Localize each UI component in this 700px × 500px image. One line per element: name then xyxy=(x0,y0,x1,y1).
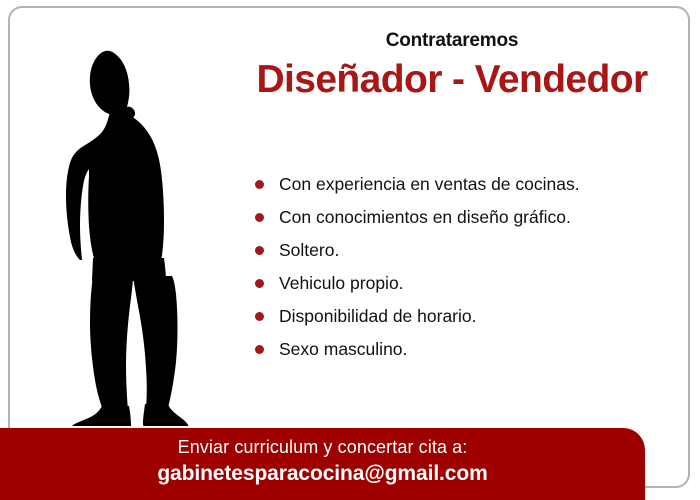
requirement-text: Con conocimientos en diseño gráfico. xyxy=(279,207,571,227)
requirement-text: Sexo masculino. xyxy=(279,339,407,359)
contact-email[interactable]: gabinetesparacocina@gmail.com xyxy=(0,460,645,488)
poster-content: Contrataremos Diseñador - Vendedor Con e… xyxy=(222,30,682,103)
bullet-dot-icon xyxy=(255,312,264,321)
contact-banner: Enviar curriculum y concertar cita a: ga… xyxy=(0,428,645,500)
list-item: Sexo masculino. xyxy=(255,333,675,366)
requirements-list: Con experiencia en ventas de cocinas. Co… xyxy=(255,168,675,366)
man-silhouette-icon xyxy=(38,26,218,426)
bullet-dot-icon xyxy=(255,180,264,189)
requirement-text: Vehiculo propio. xyxy=(279,273,404,293)
bullet-dot-icon xyxy=(255,246,264,255)
job-advert-poster: Contrataremos Diseñador - Vendedor Con e… xyxy=(0,0,700,500)
poster-kicker: Contrataremos xyxy=(222,30,682,53)
bullet-dot-icon xyxy=(255,345,264,354)
bullet-dot-icon xyxy=(255,279,264,288)
bullet-dot-icon xyxy=(255,213,264,222)
list-item: Disponibilidad de horario. xyxy=(255,300,675,333)
list-item: Con experiencia en ventas de cocinas. xyxy=(255,168,675,201)
poster-headline: Diseñador - Vendedor xyxy=(222,58,682,103)
man-silhouette-illustration xyxy=(38,26,218,426)
requirement-text: Soltero. xyxy=(279,240,339,260)
list-item: Con conocimientos en diseño gráfico. xyxy=(255,201,675,234)
call-to-action-text: Enviar curriculum y concertar cita a: xyxy=(0,434,645,460)
list-item: Soltero. xyxy=(255,234,675,267)
requirement-text: Con experiencia en ventas de cocinas. xyxy=(279,174,580,194)
requirement-text: Disponibilidad de horario. xyxy=(279,306,476,326)
list-item: Vehiculo propio. xyxy=(255,267,675,300)
